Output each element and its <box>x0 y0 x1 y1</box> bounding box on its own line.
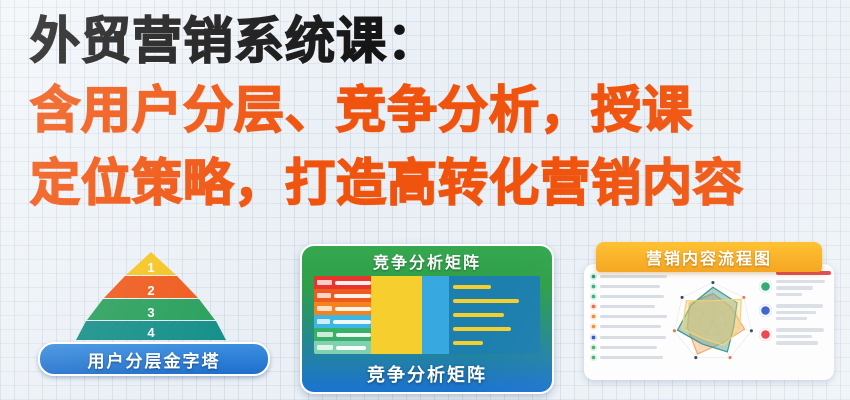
pyramid-svg: 1 2 3 4 <box>76 250 226 342</box>
radar-legend-item <box>590 303 667 310</box>
pyramid-label-button[interactable]: 用户分层金字塔 <box>38 342 270 376</box>
legend-dot-icon <box>590 334 597 341</box>
matrix-footer-title: 竞争分析矩阵 <box>302 356 552 392</box>
legend-text-placeholder <box>600 285 660 288</box>
legend-text-placeholder <box>600 325 661 328</box>
radar-group-icon <box>759 328 772 341</box>
matrix-value-bar <box>453 313 505 317</box>
matrix-row <box>314 302 371 315</box>
pyramid-layer-4-number: 4 <box>147 325 155 340</box>
pyramid-card[interactable]: 1 2 3 4 用户分层金字塔 <box>22 246 280 386</box>
matrix-right-bars <box>449 276 540 354</box>
radar-legend-item <box>590 273 667 280</box>
pyramid-layer-2-number: 2 <box>147 283 154 298</box>
radar-group-line <box>776 317 807 320</box>
poster-canvas: 外贸营销系统课： 含用户分层、竞争分析，授课 定位策略，打造高转化营销内容 1 … <box>0 0 850 400</box>
legend-dot-icon <box>590 354 597 361</box>
legend-text-placeholder <box>600 275 667 278</box>
legend-dot-icon <box>590 323 597 330</box>
radar-axis-point <box>749 329 752 332</box>
radar-group-line <box>776 341 818 344</box>
radar-group-icon <box>759 304 772 317</box>
radar-header-title: 营销内容流程图 <box>596 242 822 272</box>
matrix-body <box>314 276 540 354</box>
pyramid-graphic: 1 2 3 4 <box>22 246 280 338</box>
matrix-row-bar <box>335 307 370 311</box>
legend-dot-icon <box>590 293 597 300</box>
legend-text-placeholder <box>600 305 655 308</box>
legend-dot-icon <box>590 313 597 320</box>
headline-block: 外贸营销系统课： 含用户分层、竞争分析，授课 定位策略，打造高转化营销内容 <box>30 16 850 209</box>
matrix-row-bar <box>336 333 371 337</box>
radar-chart-svg <box>670 264 756 380</box>
radar-card[interactable]: 营销内容流程图 <box>580 242 838 388</box>
legend-dot-icon <box>590 303 597 310</box>
radar-detail-group <box>759 328 829 347</box>
matrix-row-bar <box>333 320 370 324</box>
radar-group-line <box>776 304 822 307</box>
matrix-row-bar <box>336 346 366 350</box>
matrix-right-labels <box>422 276 448 354</box>
radar-group-lines <box>776 304 829 323</box>
radar-detail-group <box>759 280 829 299</box>
matrix-row-tag <box>317 306 332 311</box>
radar-group-lines <box>776 280 829 299</box>
radar-group-lines <box>776 328 829 347</box>
radar-legend-item <box>590 293 667 300</box>
matrix-value-bar <box>453 285 491 289</box>
radar-axis-point <box>711 281 714 284</box>
legend-dot-icon <box>590 273 597 280</box>
legend-text-placeholder <box>600 295 664 298</box>
matrix-value-bar <box>453 341 483 345</box>
radar-group-line <box>776 311 816 314</box>
matrix-row <box>314 276 371 289</box>
radar-axis-point <box>694 356 697 359</box>
diagram-cards-row: 1 2 3 4 用户分层金字塔 竞争分析矩阵 竞争分析矩阵 <box>0 246 850 398</box>
matrix-card[interactable]: 竞争分析矩阵 竞争分析矩阵 <box>300 244 554 394</box>
matrix-right-column <box>422 276 540 354</box>
radar-axis-point <box>728 356 731 359</box>
matrix-header-title: 竞争分析矩阵 <box>302 246 552 276</box>
matrix-row-tag <box>317 332 333 337</box>
legend-text-placeholder <box>600 346 657 349</box>
legend-text-placeholder <box>600 336 666 339</box>
headline-line-1: 外贸营销系统课： <box>30 16 850 67</box>
legend-dot-icon <box>590 283 597 290</box>
radar-group-line <box>776 328 823 331</box>
radar-axis-point <box>742 296 745 299</box>
radar-right-legend <box>755 264 834 380</box>
legend-dot-icon <box>590 344 597 351</box>
radar-legend-item <box>590 354 667 361</box>
matrix-row-tag <box>317 345 333 350</box>
radar-group-line <box>776 286 813 289</box>
matrix-value-bar <box>453 299 520 303</box>
radar-group-icon <box>759 280 772 293</box>
matrix-row <box>314 328 371 341</box>
matrix-center-column <box>371 276 423 354</box>
matrix-row <box>314 289 371 302</box>
headline-line-2: 含用户分层、竞争分析，授课 <box>30 85 850 136</box>
radar-legend-item <box>590 323 667 330</box>
legend-text-placeholder <box>600 315 667 318</box>
radar-group-line <box>776 293 801 296</box>
radar-legend-item <box>590 313 667 320</box>
matrix-row <box>314 341 371 354</box>
radar-group-line <box>776 280 824 283</box>
matrix-row-bar <box>334 294 371 298</box>
matrix-row-tag <box>317 293 331 298</box>
radar-chart-area <box>670 264 756 380</box>
matrix-row-tag <box>317 280 332 285</box>
radar-axis-point <box>680 296 683 299</box>
matrix-row-bar <box>335 281 371 285</box>
pyramid-layer-1-number: 1 <box>147 260 154 275</box>
radar-detail-group <box>759 304 829 323</box>
radar-left-legend <box>584 264 670 380</box>
matrix-row <box>314 315 371 328</box>
matrix-row-tag <box>317 319 330 324</box>
matrix-left-column <box>314 276 371 354</box>
radar-legend-item <box>590 344 667 351</box>
pyramid-layer-3-number: 3 <box>147 305 154 320</box>
radar-axis-point <box>672 329 675 332</box>
radar-group-line <box>776 335 812 338</box>
radar-body <box>584 264 834 380</box>
matrix-value-bar <box>453 327 511 331</box>
radar-legend-item <box>590 334 667 341</box>
headline-line-3: 定位策略，打造高转化营销内容 <box>30 158 850 209</box>
legend-text-placeholder <box>600 356 663 359</box>
radar-legend-item <box>590 283 667 290</box>
